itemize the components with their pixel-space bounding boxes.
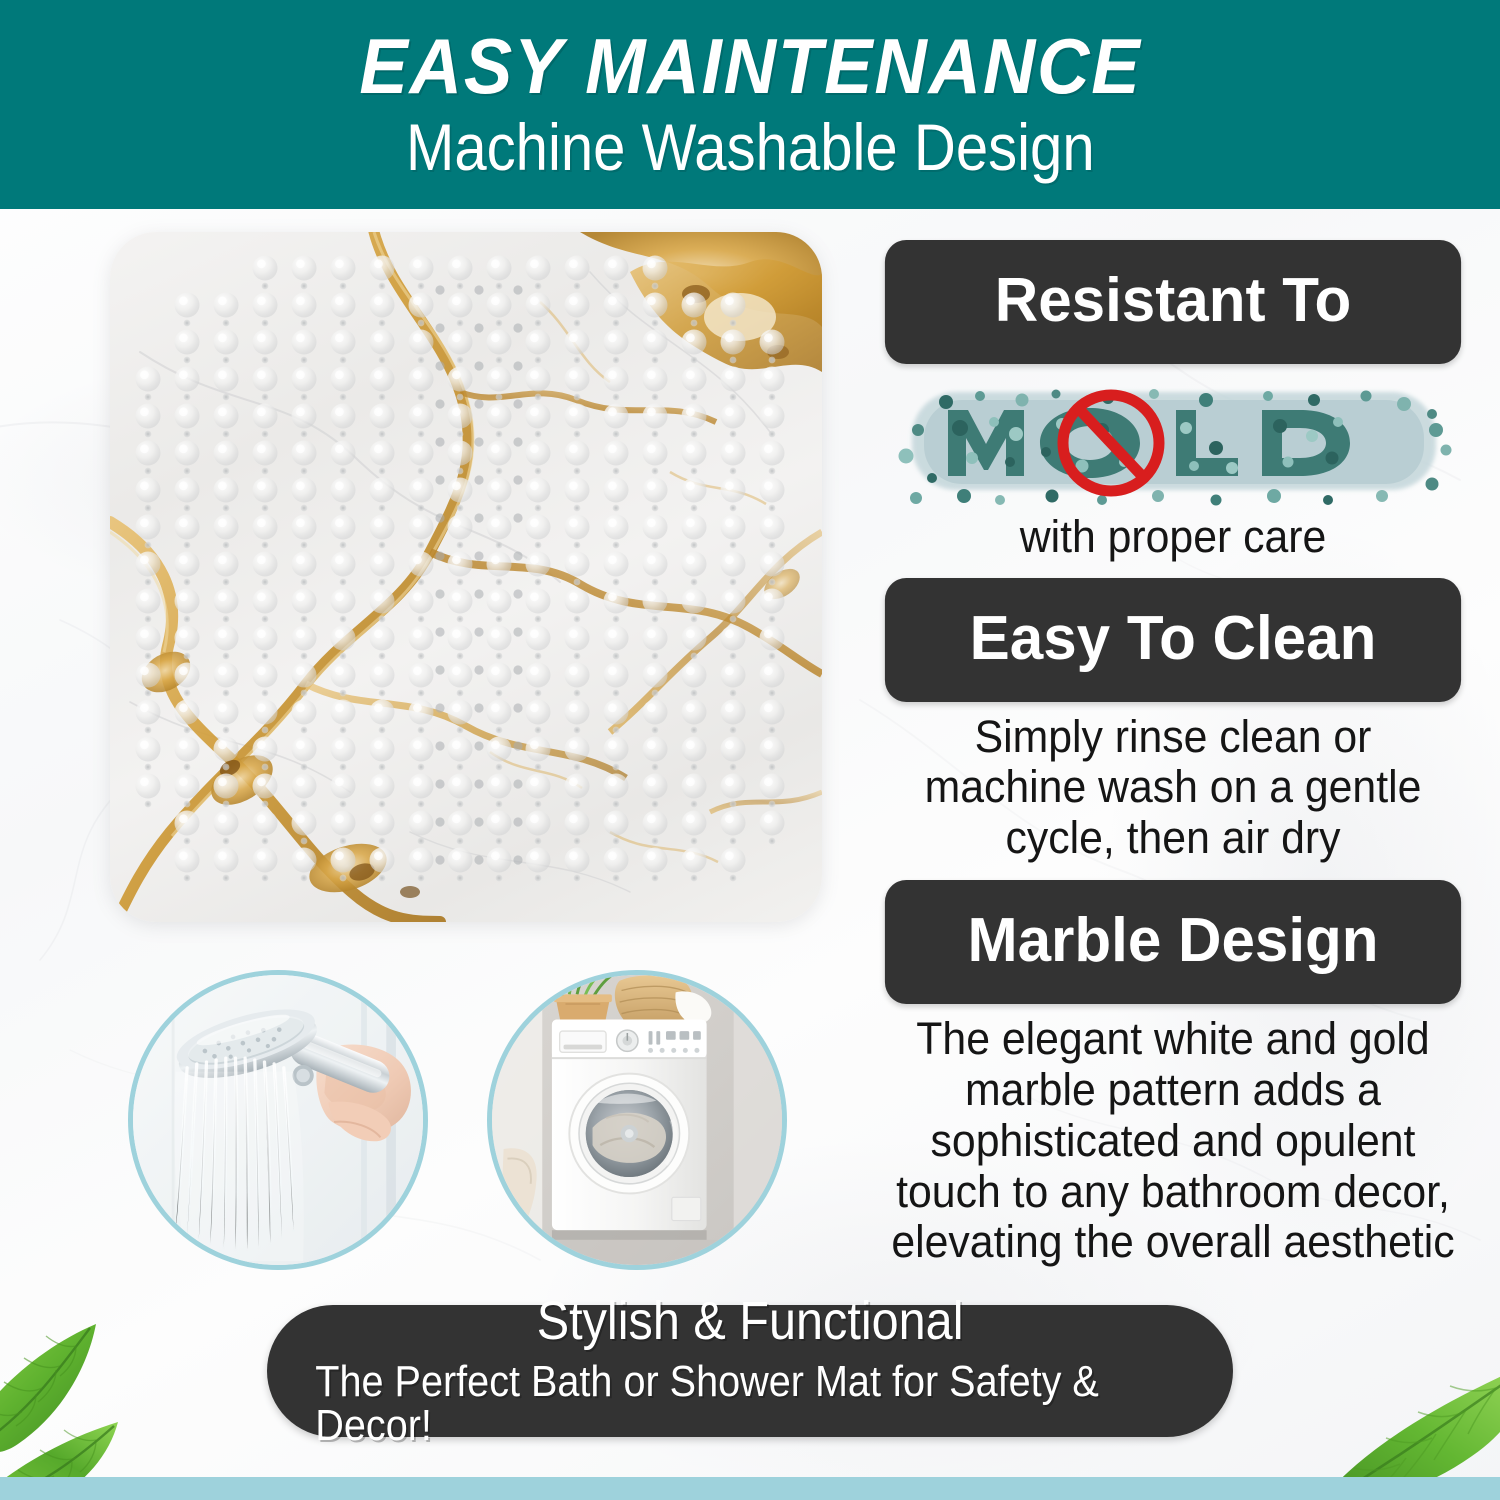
green-leaf-decoration-left (0, 1318, 284, 1500)
shower-head-photo (128, 970, 428, 1270)
feature-list: Resistant To (876, 240, 1470, 1268)
feature-body-easy-to-clean: Simply rinse clean or machine wash on a … (891, 712, 1455, 865)
mold-no-symbol-graphic (876, 374, 1470, 512)
shower-head-illustration (133, 975, 423, 1265)
feature-body-marble-design: The elegant white and gold marble patter… (891, 1014, 1455, 1268)
feature-badge-easy-to-clean: Easy To Clean (885, 578, 1461, 702)
feature-badge-marble-design: Marble Design (885, 880, 1461, 1004)
header-banner: EASY MAINTENANCE Machine Washable Design (0, 0, 1500, 209)
washing-machine-photo (487, 970, 787, 1270)
product-image-shower-mat (110, 232, 822, 922)
infographic-page: EASY MAINTENANCE Machine Washable Design (0, 0, 1500, 1500)
mat-suction-bumps (110, 232, 822, 922)
washing-machine-illustration (492, 975, 782, 1265)
shower-mat-body (110, 232, 822, 922)
pill-subtitle: The Perfect Bath or Shower Mat for Safet… (315, 1360, 1184, 1448)
feature-badge-resistant-to-mold: Resistant To (885, 240, 1461, 364)
feature-caption-with-proper-care: with proper care (891, 512, 1455, 562)
pill-title: Stylish & Functional (537, 1294, 964, 1348)
banner-title: EASY MAINTENANCE (359, 27, 1141, 105)
banner-subtitle: Machine Washable Design (406, 113, 1095, 182)
bottom-tagline-pill: Stylish & Functional The Perfect Bath or… (267, 1305, 1233, 1437)
bottom-accent-strip (0, 1477, 1500, 1500)
